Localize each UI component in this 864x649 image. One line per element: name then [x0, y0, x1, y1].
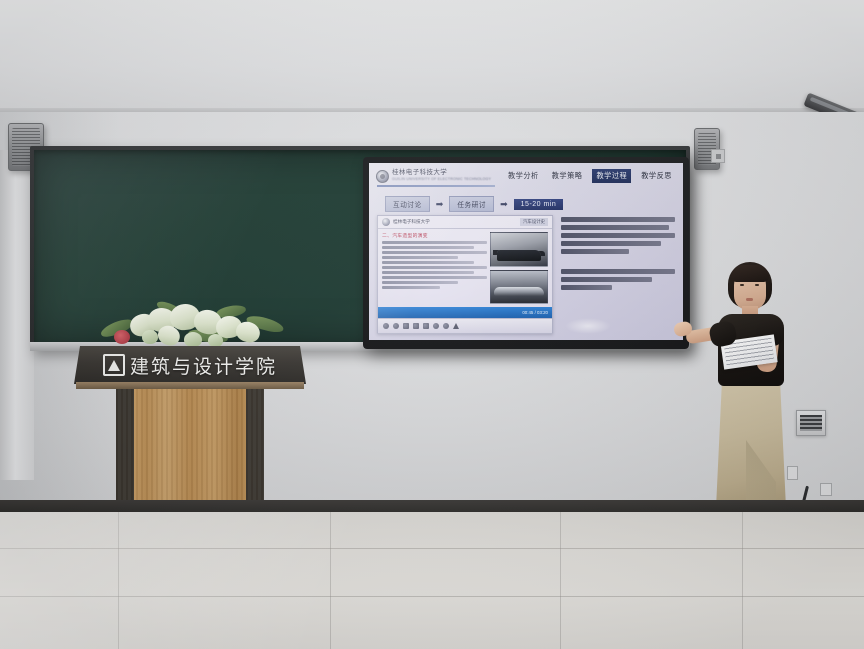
text-line — [382, 271, 474, 274]
presenter-hair-front — [731, 265, 769, 282]
flow-duration-badge: 15-20 min — [514, 199, 564, 210]
player-body-title: 二、汽车造型的演变 — [382, 232, 487, 239]
presenter-eye — [755, 284, 759, 286]
classroom-photo-scene: 桂林电子科技大学 GUILIN UNIVERSITY OF ELECTRONIC… — [0, 0, 864, 649]
lesson-flow-row: 互动讨论 ➡ 任务研讨 ➡ 15-20 min — [385, 196, 563, 212]
settings-icon[interactable] — [443, 323, 449, 329]
player-emblem-icon — [382, 218, 390, 226]
flow-arrow-icon: ➡ — [436, 200, 444, 209]
player-progress-bar[interactable]: 00:45 / 03:20 — [378, 307, 552, 318]
tab-teaching-process[interactable]: 教学过程 — [592, 169, 631, 183]
player-content: 二、汽车造型的演变 — [378, 229, 552, 307]
text-line — [561, 269, 675, 274]
text-line — [382, 286, 440, 289]
power-outlet-icon — [787, 466, 798, 480]
embedded-media-player[interactable]: 桂林电子科技大学 汽车设计史 二、汽车造型的演变 — [377, 215, 553, 334]
flow-step-2: 任务研讨 — [449, 196, 494, 212]
classic-car-photo — [490, 270, 548, 305]
wall-mount-plate — [711, 149, 725, 163]
pen-icon[interactable] — [403, 323, 409, 329]
vintage-car-photo — [490, 232, 548, 267]
tab-teaching-reflection[interactable]: 教学反思 — [638, 169, 675, 183]
university-name-en: GUILIN UNIVERSITY OF ELECTRONIC TECHNOLO… — [392, 178, 491, 182]
text-line — [382, 261, 474, 264]
university-logo: 桂林电子科技大学 GUILIN UNIVERSITY OF ELECTRONIC… — [376, 170, 491, 183]
interactive-display[interactable]: 桂林电子科技大学 GUILIN UNIVERSITY OF ELECTRONIC… — [363, 157, 689, 349]
lectern-sign-panel: 建筑与设计学院 — [74, 346, 306, 384]
text-line — [382, 266, 487, 269]
text-line — [382, 251, 487, 254]
player-thumbnails — [490, 232, 548, 304]
paragraph-design-intent — [561, 269, 675, 290]
player-header: 桂林电子科技大学 汽车设计史 — [378, 216, 552, 229]
presenter-mouth — [746, 298, 753, 301]
wall-column — [0, 150, 34, 480]
text-line — [382, 241, 487, 244]
share-icon[interactable] — [453, 323, 459, 329]
text-line — [382, 281, 458, 284]
text-line — [561, 277, 652, 282]
lectern-lip — [76, 382, 304, 389]
player-header-title: 桂林电子科技大学 — [393, 219, 430, 225]
display-screen[interactable]: 桂林电子科技大学 GUILIN UNIVERSITY OF ELECTRONIC… — [369, 163, 683, 340]
header-divider — [377, 185, 495, 187]
floor — [0, 512, 864, 649]
text-line — [382, 276, 487, 279]
electrical-panel-icon — [796, 410, 826, 436]
paragraph-gap — [561, 258, 675, 265]
pause-icon[interactable] — [393, 323, 399, 329]
university-name-block: 桂林电子科技大学 GUILIN UNIVERSITY OF ELECTRONIC… — [392, 170, 491, 181]
school-logo-icon — [103, 354, 125, 376]
text-line — [561, 285, 612, 290]
power-outlet-icon — [820, 483, 832, 496]
text-line — [561, 241, 661, 246]
presenter-eye — [740, 284, 744, 286]
text-line — [382, 246, 474, 249]
text-line — [382, 256, 458, 259]
school-name-text: 建筑与设计学院 — [130, 352, 277, 379]
university-name-cn: 桂林电子科技大学 — [392, 170, 491, 177]
eraser-icon[interactable] — [413, 323, 419, 329]
player-toolbar[interactable] — [378, 318, 552, 333]
text-line — [561, 217, 675, 222]
university-emblem-icon — [376, 170, 389, 183]
tab-teaching-strategy[interactable]: 教学策略 — [549, 169, 586, 183]
lectern-sign: 建筑与设计学院 — [74, 346, 306, 384]
play-icon[interactable] — [383, 323, 389, 329]
text-line — [561, 233, 675, 238]
comment-icon[interactable] — [433, 323, 439, 329]
slide-body: 桂林电子科技大学 汽车设计史 二、汽车造型的演变 — [377, 215, 675, 334]
video-icon[interactable] — [423, 323, 429, 329]
text-line — [561, 225, 669, 230]
slide-nav-tabs[interactable]: 教学分析 教学策略 教学过程 教学反思 — [505, 169, 675, 183]
slide-text-column — [561, 215, 675, 334]
text-line — [561, 249, 629, 254]
flow-step-1: 互动讨论 — [385, 196, 430, 212]
tab-teaching-analysis[interactable]: 教学分析 — [505, 169, 542, 183]
player-header-badge: 汽车设计史 — [520, 218, 548, 226]
player-time-label: 00:45 / 03:20 — [522, 310, 548, 315]
flow-arrow-icon: ➡ — [500, 200, 508, 209]
player-text-column: 二、汽车造型的演变 — [382, 232, 487, 304]
ceiling — [0, 0, 864, 120]
paragraph-activities — [561, 217, 675, 254]
